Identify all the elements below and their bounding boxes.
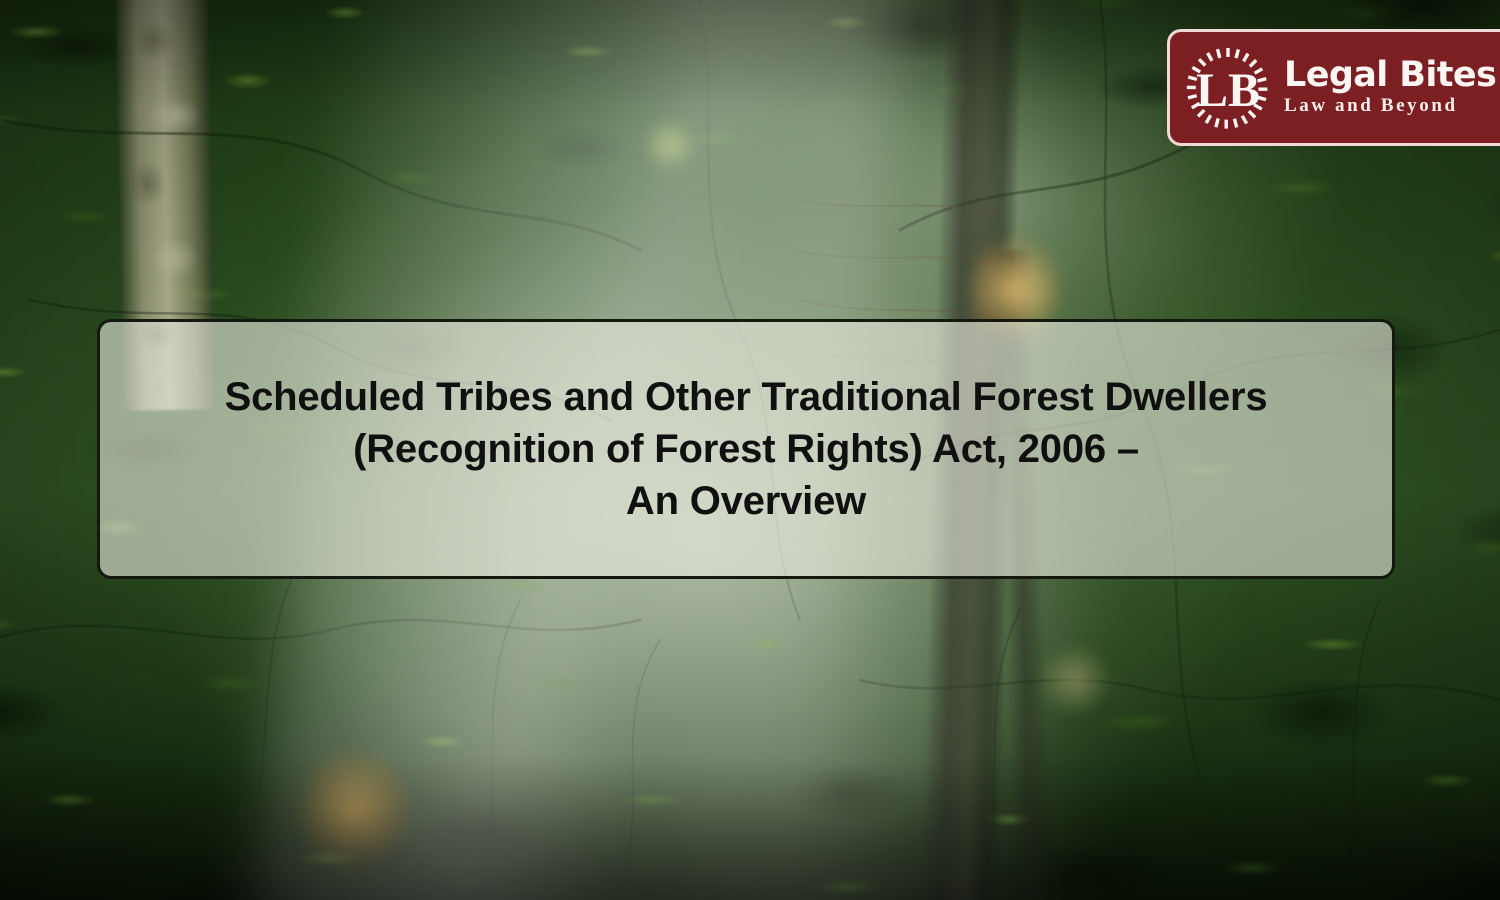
page-title: Scheduled Tribes and Other Traditional F…: [225, 371, 1268, 527]
lb-sunburst-monogram-icon: LB: [1186, 46, 1270, 130]
brand-tagline: Law and Beyond: [1284, 96, 1496, 117]
brand-name: Legal Bites: [1284, 57, 1496, 94]
legal-bites-logo-badge[interactable]: LB Legal Bites Law and Beyond: [1167, 29, 1500, 146]
article-banner: Scheduled Tribes and Other Traditional F…: [0, 0, 1500, 900]
svg-text:LB: LB: [1196, 64, 1260, 117]
title-overlay-card: Scheduled Tribes and Other Traditional F…: [97, 319, 1395, 579]
brand-wordmark: Legal Bites Law and Beyond: [1284, 57, 1496, 119]
